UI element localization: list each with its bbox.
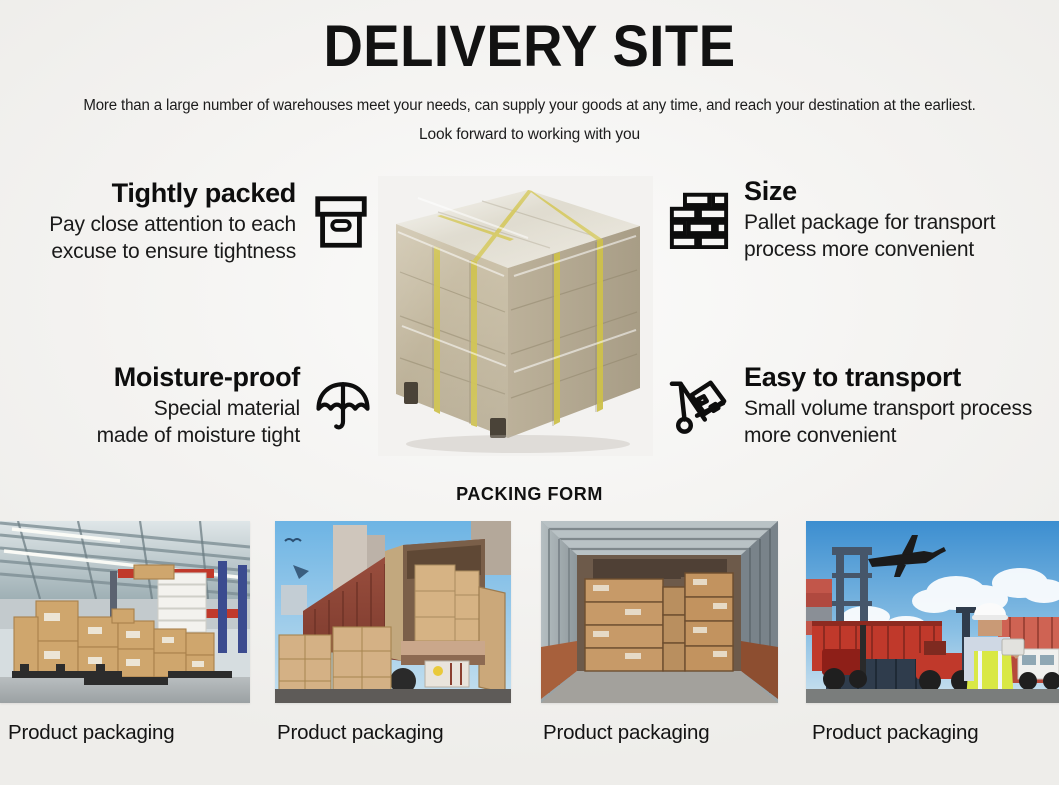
- feature-moisture-proof: Moisture-proof Special material made of …: [0, 362, 372, 449]
- page-title: DELIVERY SITE: [32, 16, 1027, 79]
- feature-title: Moisture-proof: [97, 362, 300, 394]
- photo-caption: Product packaging: [0, 721, 250, 745]
- umbrella-icon: [314, 377, 372, 435]
- feature-desc-line-2: made of moisture tight: [97, 423, 300, 449]
- feature-title: Easy to transport: [744, 362, 1032, 394]
- page-root: DELIVERY SITE More than a large number o…: [0, 0, 1059, 785]
- hand-truck-icon: [668, 377, 730, 435]
- subtitle-line-2: Look forward to working with you: [0, 126, 1059, 144]
- brick-wall-icon: [668, 191, 730, 249]
- feature-text: Size Pallet package for transport proces…: [744, 176, 995, 263]
- photo-card-2[interactable]: Product packaging: [275, 521, 511, 745]
- feature-desc-line-1: Pay close attention to each: [49, 212, 296, 238]
- feature-text: Moisture-proof Special material made of …: [97, 362, 300, 449]
- photo-card-1[interactable]: Product packaging: [0, 521, 250, 745]
- feature-text: Tightly packed Pay close attention to ea…: [49, 178, 296, 265]
- feature-desc-line-1: Pallet package for transport: [744, 210, 995, 236]
- feature-desc-line-1: Special material: [97, 396, 300, 422]
- container-loading-photo: [275, 521, 511, 703]
- packing-form-heading: PACKING FORM: [0, 484, 1059, 505]
- port-logistics-photo: [806, 521, 1059, 703]
- container-interior-photo: [541, 521, 778, 703]
- feature-desc-line-2: process more convenient: [744, 237, 995, 263]
- photo-strip: Product packaging: [0, 521, 1059, 785]
- subtitle-line-1: More than a large number of warehouses m…: [16, 97, 1043, 115]
- feature-text: Easy to transport Small volume transport…: [744, 362, 1032, 449]
- header: DELIVERY SITE More than a large number o…: [0, 0, 1059, 144]
- warehouse-interior-photo: [0, 521, 250, 703]
- feature-easy-to-transport: Easy to transport Small volume transport…: [668, 362, 1059, 449]
- feature-desc-line-1: Small volume transport process: [744, 396, 1032, 422]
- photo-card-3[interactable]: Product packaging: [541, 521, 778, 745]
- feature-desc-line-2: excuse to ensure tightness: [49, 239, 296, 265]
- photo-card-4[interactable]: Product packaging: [806, 521, 1059, 745]
- feature-size: Size Pallet package for transport proces…: [668, 176, 1059, 263]
- shrink-wrapped-pallet-photo: [378, 176, 653, 456]
- feature-title: Tightly packed: [49, 178, 296, 210]
- archive-box-icon: [310, 191, 372, 253]
- photo-caption: Product packaging: [275, 721, 511, 745]
- feature-tightly-packed: Tightly packed Pay close attention to ea…: [0, 178, 372, 265]
- photo-caption: Product packaging: [806, 721, 1059, 745]
- photo-caption: Product packaging: [541, 721, 778, 745]
- feature-desc-line-2: more convenient: [744, 423, 1032, 449]
- feature-title: Size: [744, 176, 995, 208]
